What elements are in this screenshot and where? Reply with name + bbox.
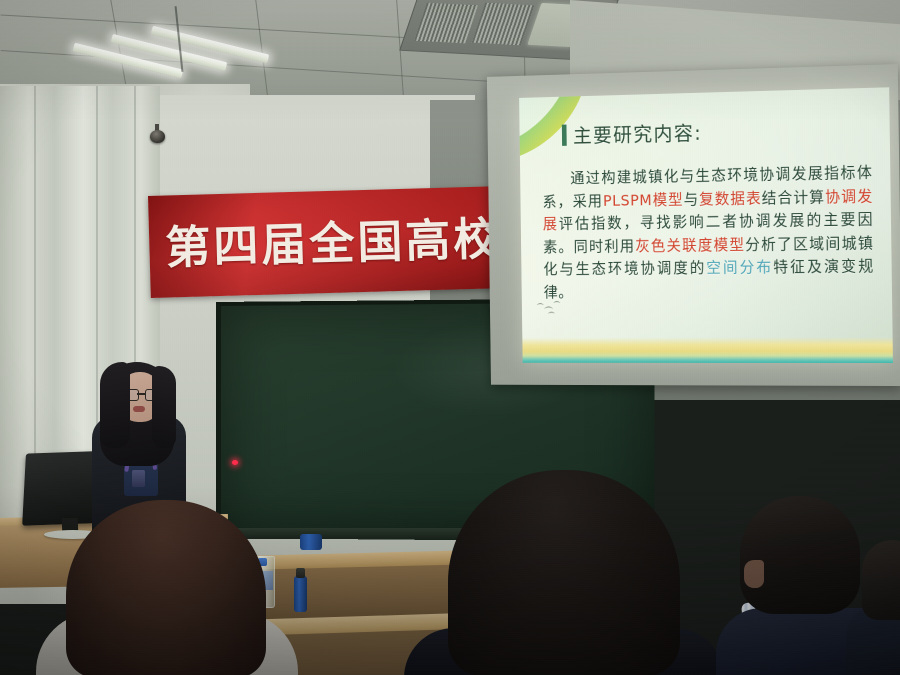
presenter-hair-front-right	[152, 366, 176, 448]
slide-title-accent-bar	[562, 125, 567, 146]
laser-pointer-dot-icon	[232, 460, 238, 465]
presentation-slide: 主要研究内容: 通过构建城镇化与生态环境协调发展指标体系，采用PLSPM模型与复…	[519, 87, 893, 363]
presenter-hair-front-left	[100, 362, 130, 448]
slide-body-text: 通过构建城镇化与生态环境协调发展指标体系，采用PLSPM模型与复数据表结合计算协…	[542, 162, 874, 305]
presenter-badge	[132, 470, 145, 487]
slide-text-run: 空间分布	[706, 259, 773, 277]
slide-text-run: PLSPM模型	[603, 191, 684, 210]
audience-center-hair	[448, 470, 680, 675]
audience-far-right-head	[862, 540, 900, 620]
audience-right-head	[740, 496, 860, 614]
slide-text-run: 结合计算	[762, 188, 826, 207]
blue-object-on-tray	[300, 534, 322, 550]
projection-screen: 主要研究内容: 通过构建城镇化与生态环境协调发展指标体系，采用PLSPM模型与复…	[487, 64, 900, 386]
slide-text-run: 与	[684, 190, 700, 208]
audience-front-left-hair	[66, 500, 266, 675]
slide-title: 主要研究内容:	[573, 117, 702, 148]
conference-banner: 第四届全国高校研	[148, 186, 499, 298]
banner-text: 第四届全国高校研	[164, 202, 496, 276]
birds-decoration-icon	[535, 297, 576, 318]
slide-text-run: 复数据表	[699, 189, 762, 208]
bottle-cap	[296, 568, 305, 578]
glasses-bridge	[137, 393, 145, 395]
presenter-mouth	[133, 406, 145, 412]
slide-bottom-band	[522, 337, 893, 363]
lecture-hall-photo: 第四届全国高校研 主要研究内容: 通过构建城镇化与生态环境协调发展指标体系，采用…	[0, 0, 900, 675]
slide-text-run: 灰色关联度模型	[635, 236, 745, 255]
security-camera-icon	[150, 130, 165, 143]
blue-bottle	[294, 576, 307, 612]
audience-right-ear	[744, 560, 764, 588]
